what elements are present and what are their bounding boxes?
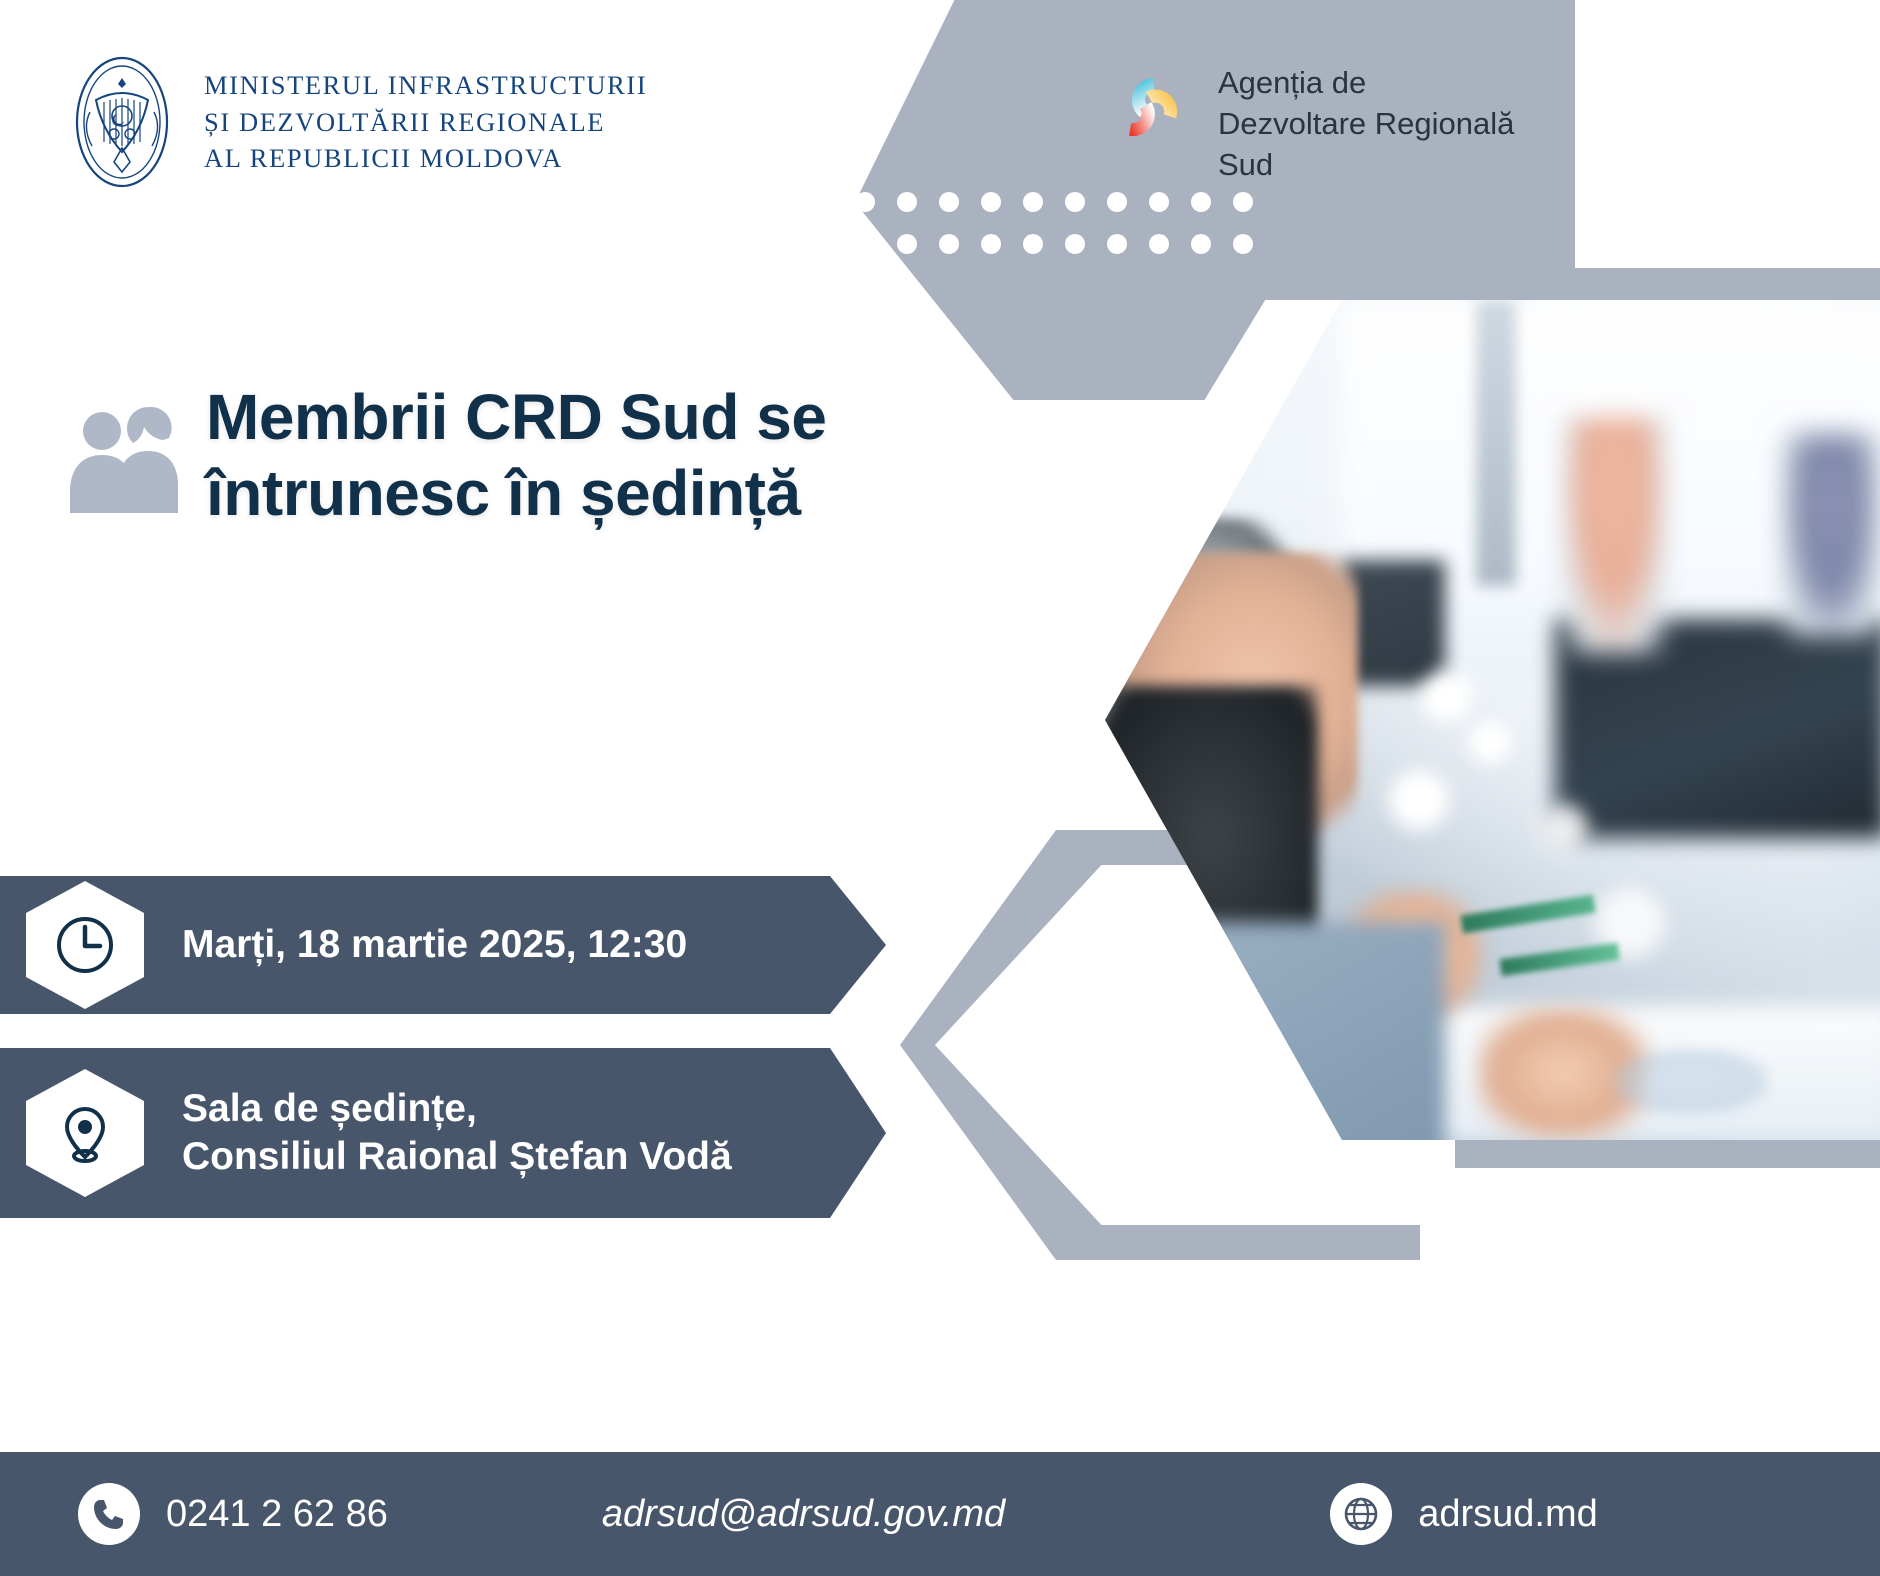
contact-website[interactable]: adrsud.md <box>1330 1483 1598 1545</box>
poster-canvas: MINISTERUL INFRASTRUCTURII ȘI DEZVOLTĂRI… <box>0 0 1880 1576</box>
ministry-name: MINISTERUL INFRASTRUCTURII ȘI DEZVOLTĂRI… <box>204 67 647 177</box>
page-title: Membrii CRD Sud se întrunesc în ședință <box>206 380 826 531</box>
contact-email[interactable]: adrsud@adrsud.gov.md <box>576 1493 1005 1536</box>
ministry-branding: MINISTERUL INFRASTRUCTURII ȘI DEZVOLTĂRI… <box>66 52 647 192</box>
event-location-text: Sala de ședințe, Consiliul Raional Ștefa… <box>182 1085 732 1180</box>
clock-icon <box>26 881 144 1009</box>
agency-branding: Agenția de Dezvoltare Regională Sud <box>1110 62 1514 186</box>
agency-name: Agenția de Dezvoltare Regională Sud <box>1218 62 1514 186</box>
headline-block: Membrii CRD Sud se întrunesc în ședință <box>62 380 942 531</box>
phone-number: 0241 2 62 86 <box>166 1493 388 1536</box>
decorative-dot-grid <box>855 192 1253 254</box>
contact-footer: 0241 2 62 86 adrsud@adrsud.gov.md adrsud… <box>0 1452 1880 1576</box>
contact-phone[interactable]: 0241 2 62 86 <box>78 1483 388 1545</box>
phone-icon <box>78 1483 140 1545</box>
event-date-banner: Marți, 18 martie 2025, 12:30 <box>0 876 830 1014</box>
meeting-photo <box>1105 300 1880 1140</box>
event-date-text: Marți, 18 martie 2025, 12:30 <box>182 921 687 969</box>
map-pin-icon <box>26 1069 144 1197</box>
email-address: adrsud@adrsud.gov.md <box>602 1493 1005 1536</box>
event-location-banner: Sala de ședințe, Consiliul Raional Ștefa… <box>0 1048 830 1218</box>
moldova-coat-of-arms-icon <box>66 52 178 192</box>
adr-sud-swirl-logo-icon <box>1110 68 1194 152</box>
website-url: adrsud.md <box>1418 1493 1598 1536</box>
group-of-people-icon <box>62 399 188 529</box>
globe-icon <box>1330 1483 1392 1545</box>
